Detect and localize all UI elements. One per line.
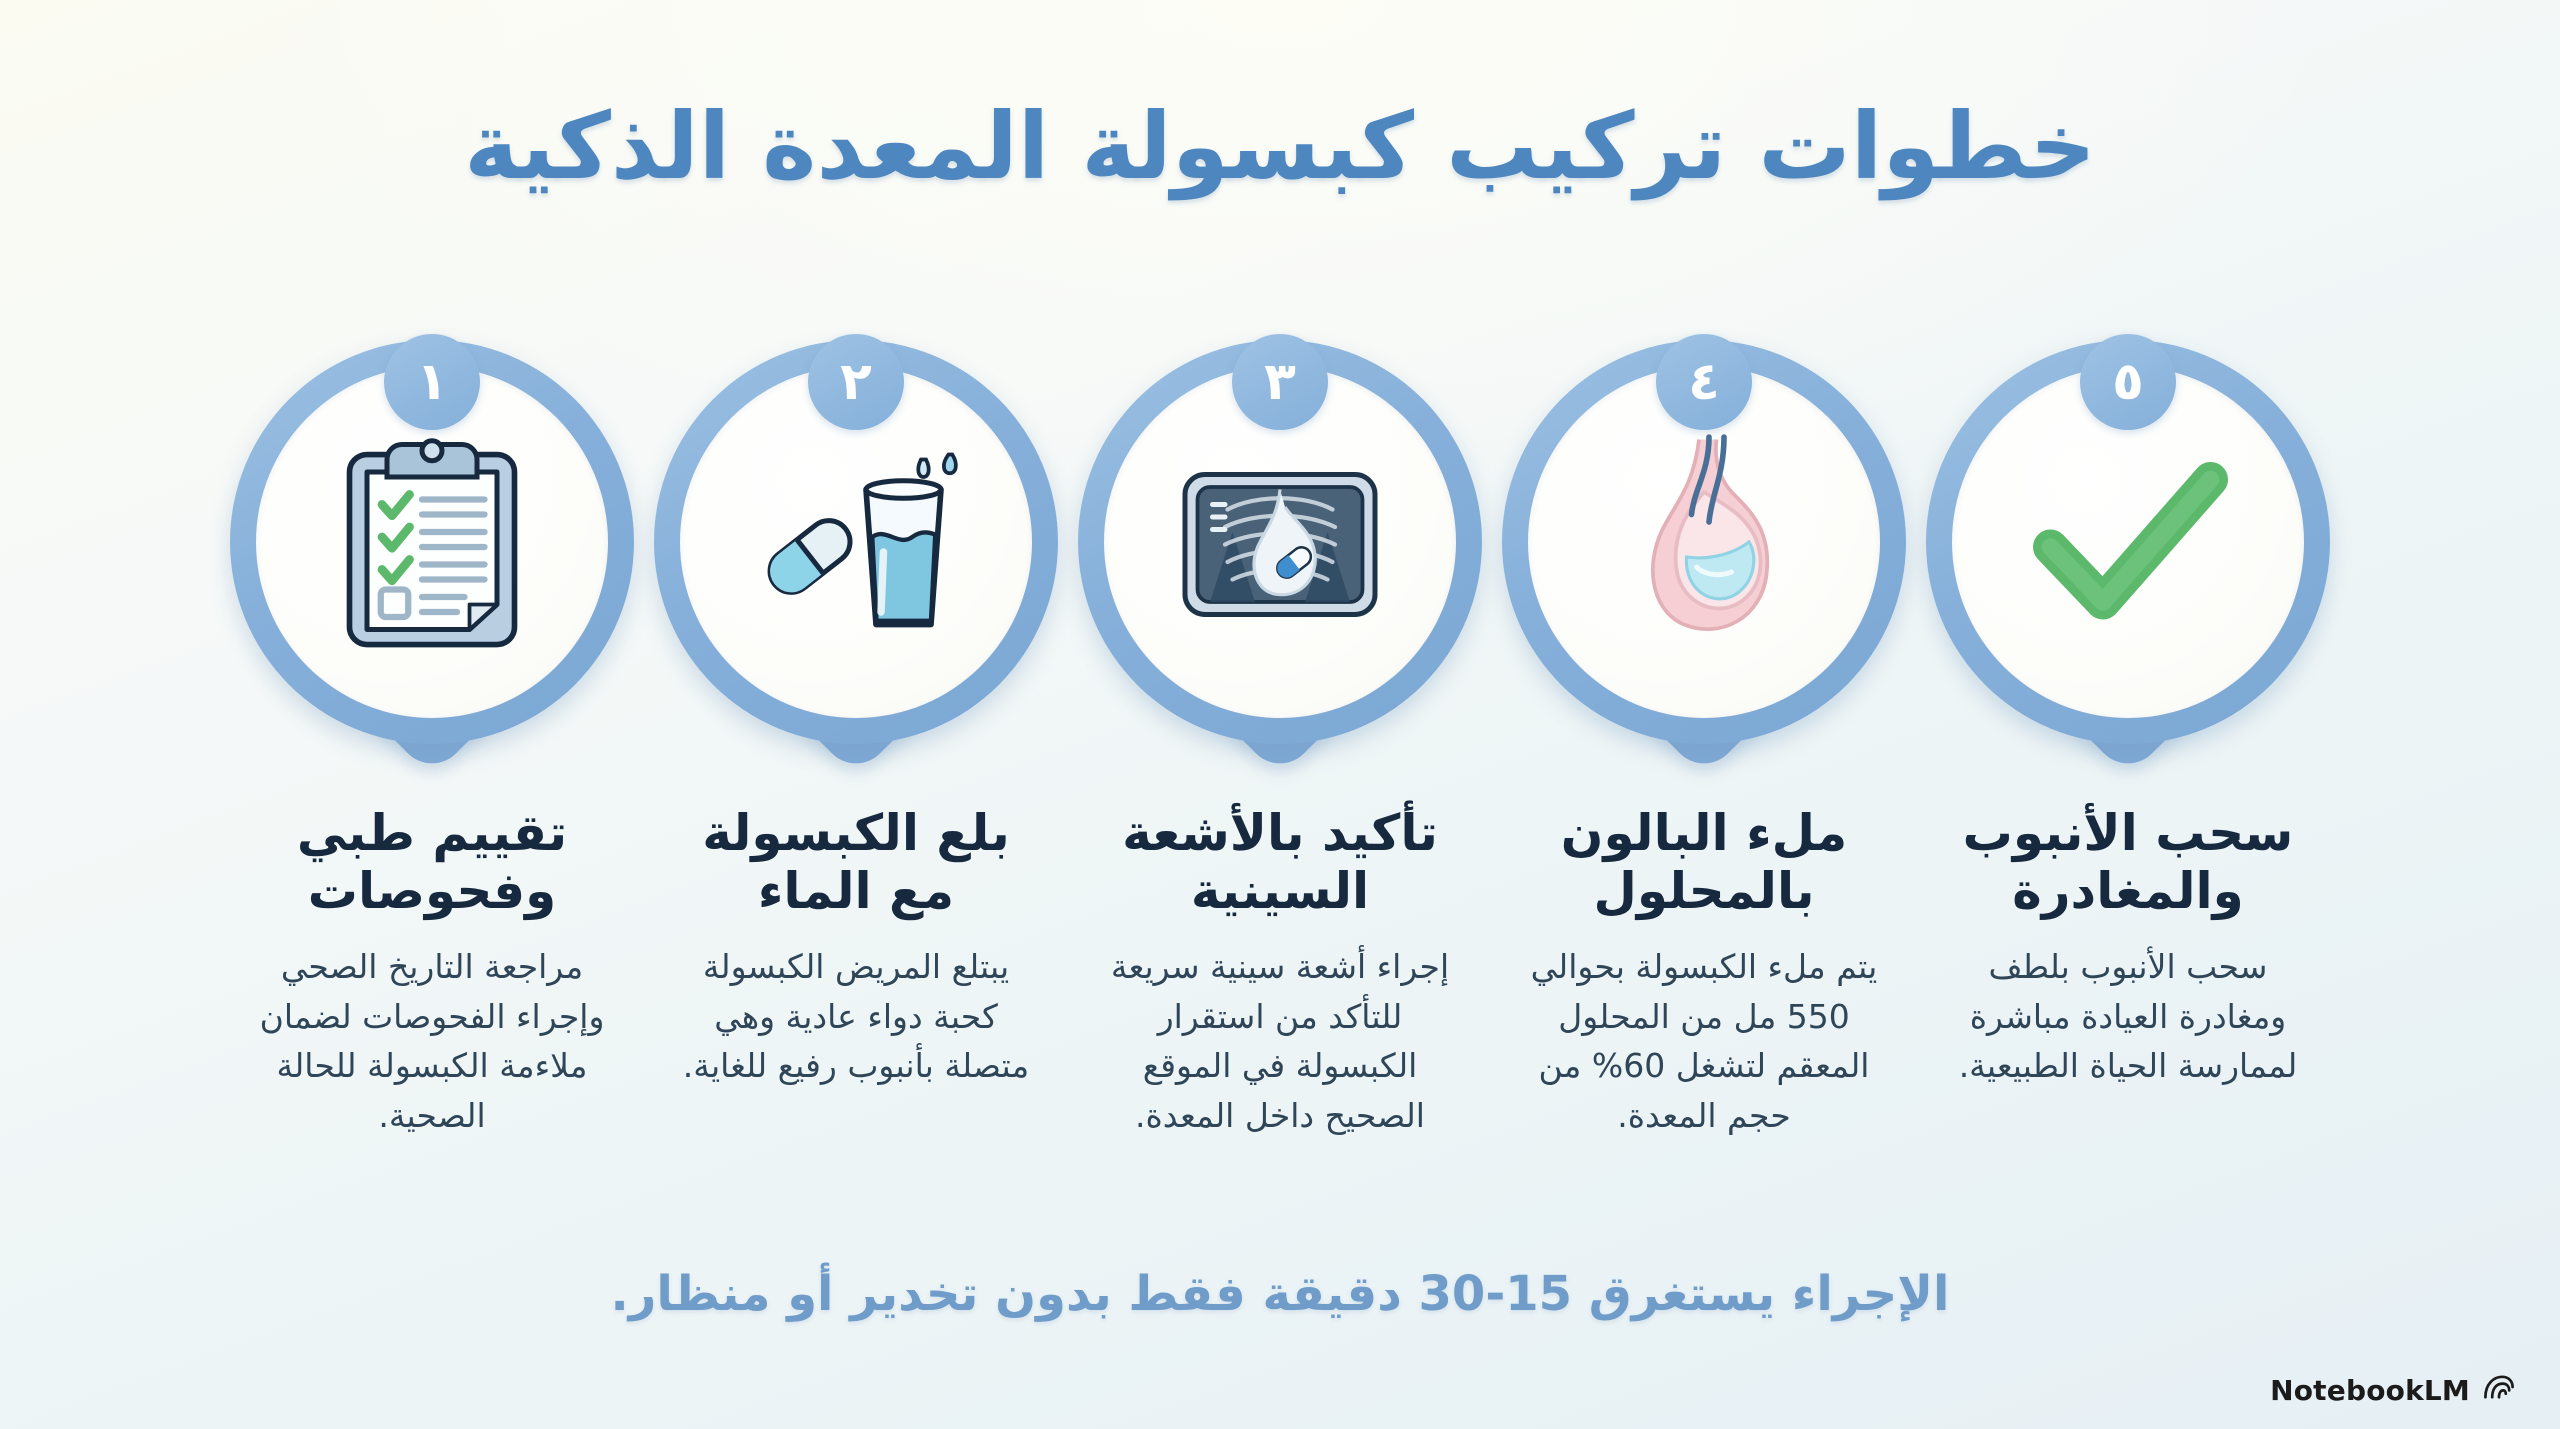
step-pin-1: ١	[229, 340, 635, 780]
clipboard-checklist-icon	[307, 417, 557, 667]
pin-circle: ٤	[1502, 340, 1906, 744]
step-card-1: ١ تقييم طبي وفحوصات مراجعة التاريخ الصحي…	[229, 340, 635, 1140]
step-description: إجراء أشعة سينية سريعة للتأكد من استقرار…	[1100, 942, 1460, 1140]
page-title: خطوات تركيب كبسولة المعدة الذكية	[0, 96, 2560, 197]
infographic-canvas: خطوات تركيب كبسولة المعدة الذكية	[0, 0, 2560, 1429]
step-title: تقييم طبي وفحوصات	[247, 804, 617, 920]
notebooklm-label: NotebookLM	[2270, 1374, 2470, 1407]
step-title: بلع الكبسولة مع الماء	[671, 804, 1041, 920]
stomach-balloon-icon	[1579, 417, 1829, 667]
step-title: ملء البالون بالمحلول	[1519, 804, 1889, 920]
step-card-5: ٥ سحب الأنبوب والمغادرة سحب الأنبوب بلطف…	[1925, 340, 2331, 1091]
pill-and-water-glass-icon	[731, 417, 981, 667]
step-description: مراجعة التاريخ الصحي وإجراء الفحوصات لضم…	[252, 942, 612, 1140]
step-card-3: ٣ تأكيد بالأشعة السينية إجراء أشعة سينية…	[1077, 340, 1483, 1140]
step-title: تأكيد بالأشعة السينية	[1095, 804, 1465, 920]
step-card-2: ٢ بلع الكبسولة مع الماء يبتلع المريض الك…	[653, 340, 1059, 1091]
notebooklm-logo-icon	[2482, 1370, 2516, 1411]
step-pin-4: ٤	[1501, 340, 1907, 780]
step-pin-5: ٥	[1925, 340, 2331, 780]
step-number-badge: ٥	[2080, 334, 2176, 430]
step-number-badge: ٣	[1232, 334, 1328, 430]
green-checkmark-icon	[2003, 417, 2253, 667]
step-pin-3: ٣	[1077, 340, 1483, 780]
step-pin-2: ٢	[653, 340, 1059, 780]
pin-circle: ٣	[1078, 340, 1482, 744]
step-title: سحب الأنبوب والمغادرة	[1943, 804, 2313, 920]
notebooklm-watermark: NotebookLM	[2270, 1370, 2516, 1411]
step-number-badge: ٤	[1656, 334, 1752, 430]
step-number-badge: ١	[384, 334, 480, 430]
pin-circle: ١	[230, 340, 634, 744]
xray-monitor-icon	[1155, 417, 1405, 667]
step-number-badge: ٢	[808, 334, 904, 430]
pin-circle: ٥	[1926, 340, 2330, 744]
pin-circle: ٢	[654, 340, 1058, 744]
step-card-4: ٤ ملء البالون بالمحلول يتم ملء الكبسولة …	[1501, 340, 1907, 1140]
step-description: سحب الأنبوب بلطف ومغادرة العيادة مباشرة …	[1948, 942, 2308, 1091]
step-description: يبتلع المريض الكبسولة كحبة دواء عادية وه…	[676, 942, 1036, 1091]
steps-row: ٥ سحب الأنبوب والمغادرة سحب الأنبوب بلطف…	[0, 340, 2560, 1140]
step-description: يتم ملء الكبسولة بحوالي 550 مل من المحلو…	[1524, 942, 1884, 1140]
footer-note: الإجراء يستغرق 15-30 دقيقة فقط بدون تخدي…	[0, 1266, 2560, 1322]
